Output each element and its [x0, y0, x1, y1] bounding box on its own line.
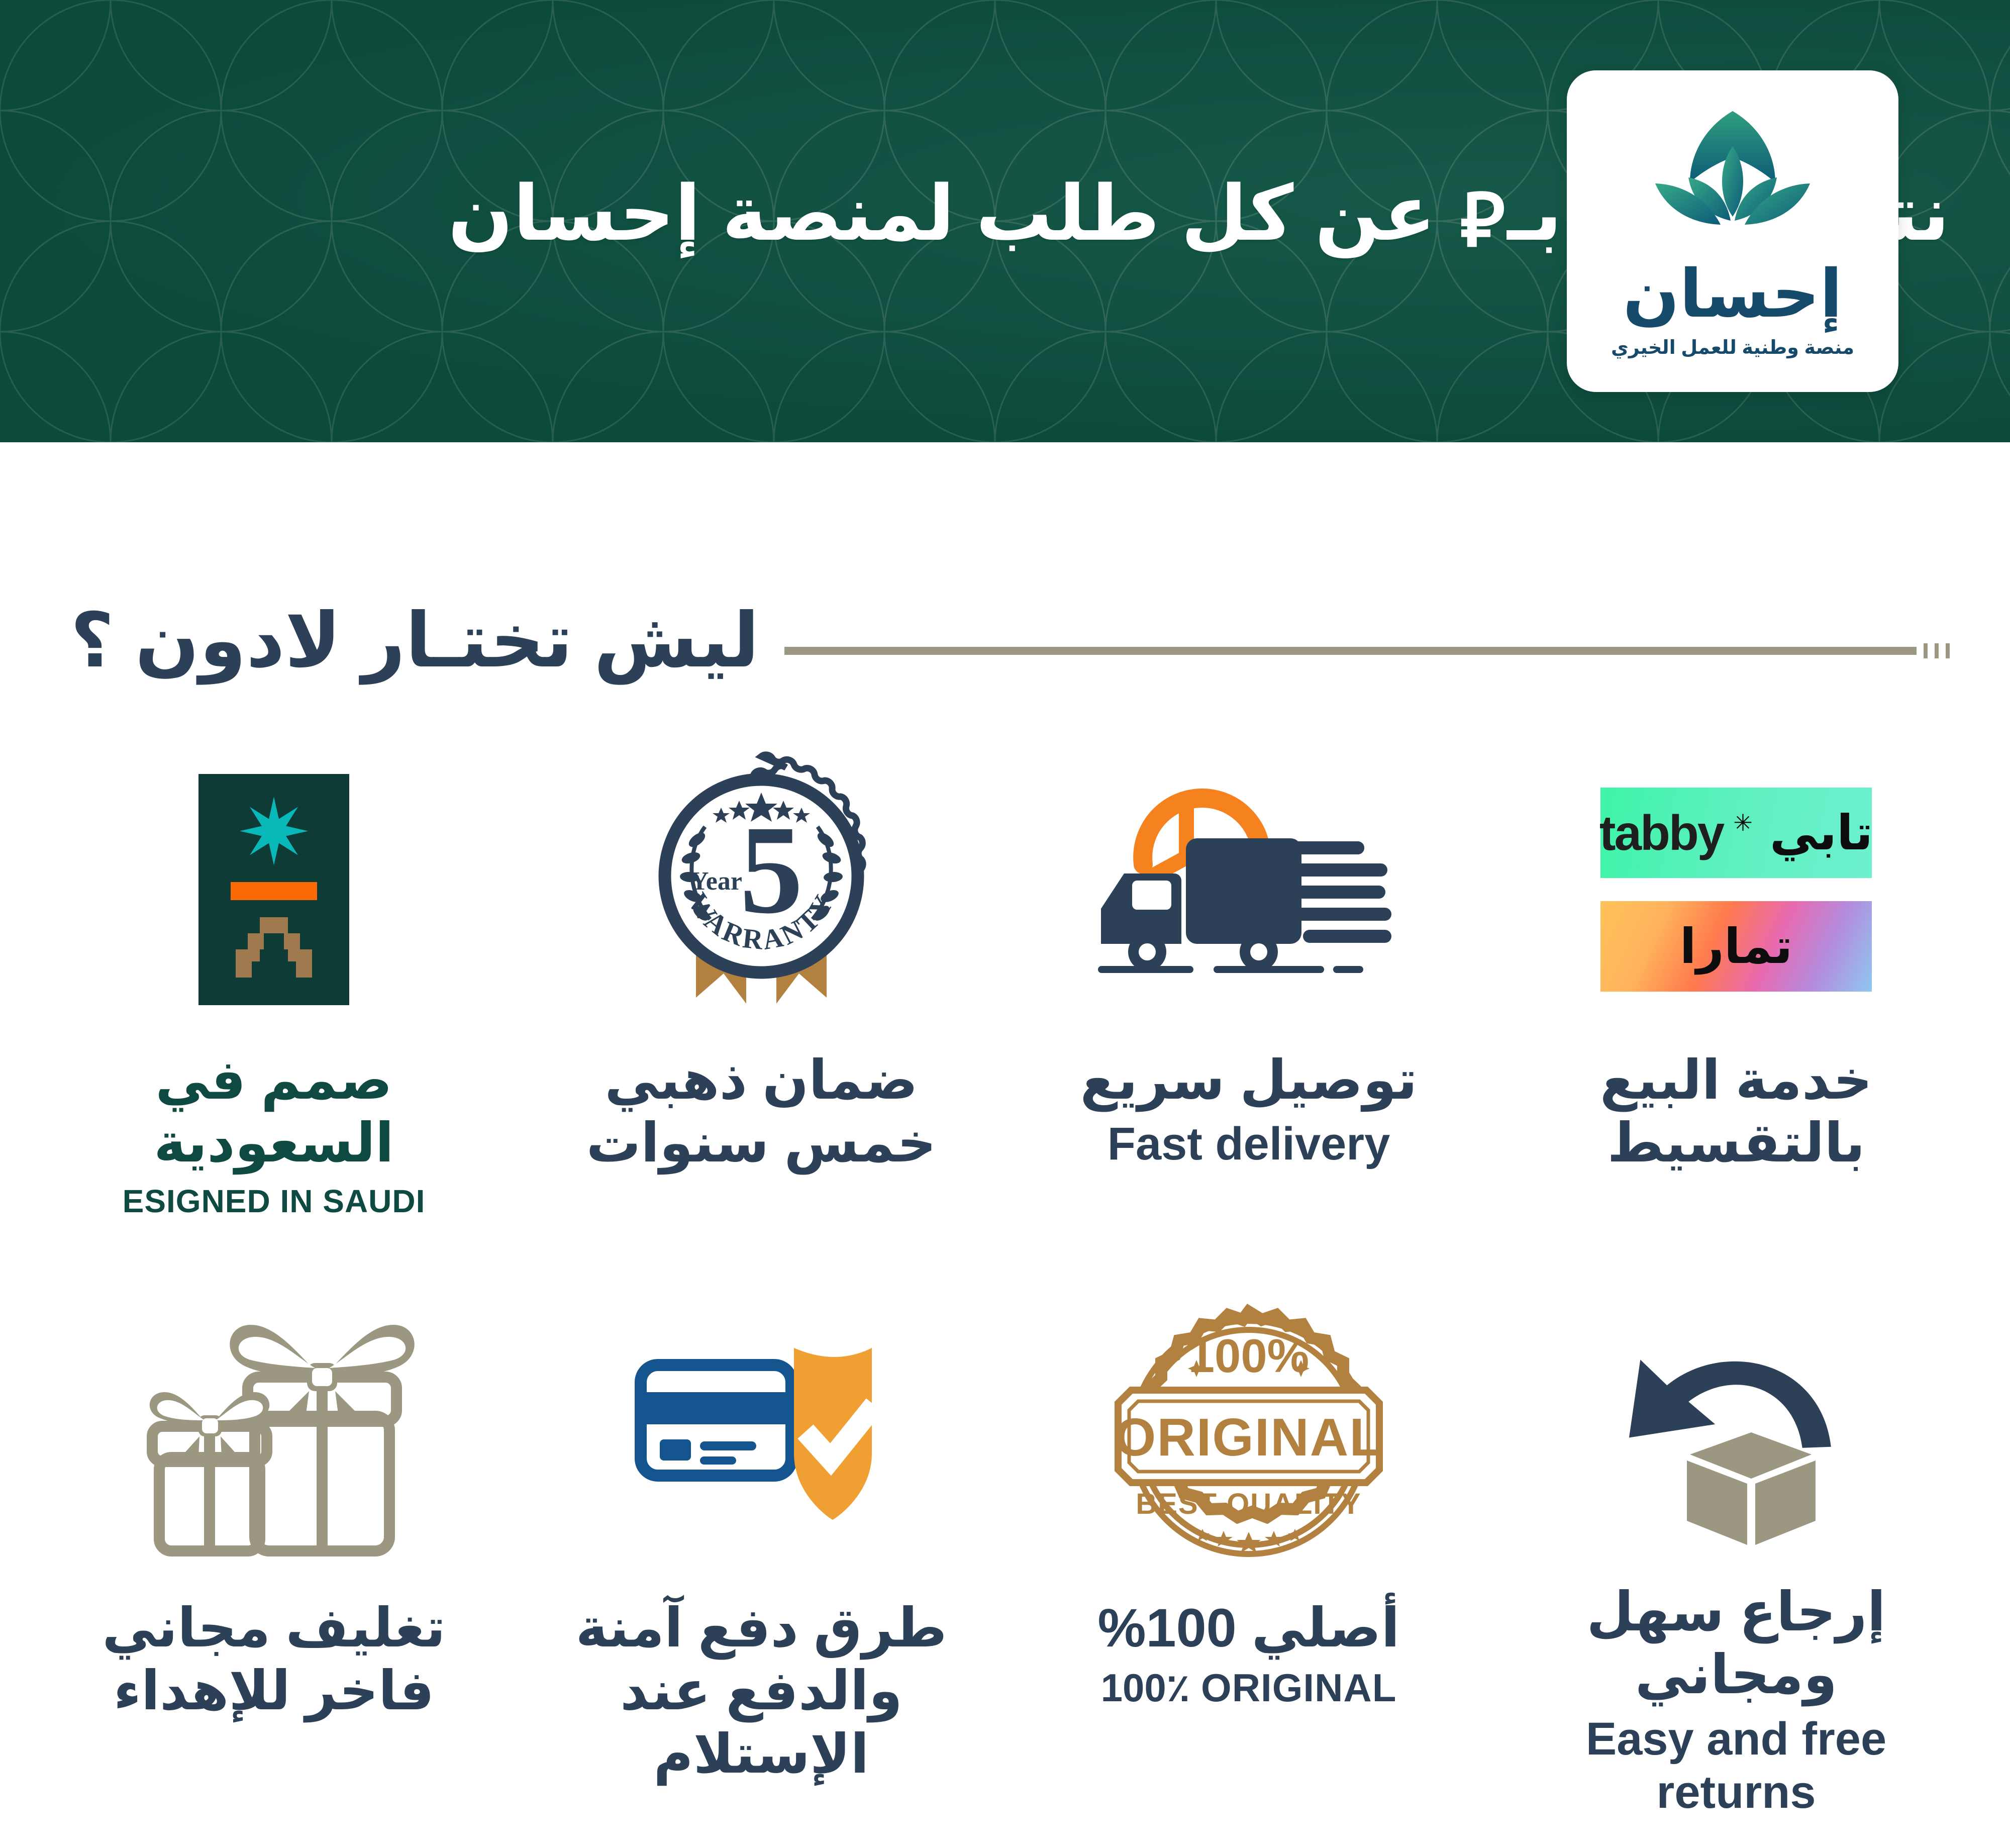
orange-bar-icon [231, 882, 317, 900]
ihsan-logo-card[interactable]: إحسان منصة وطنية للعمل الخيري [1567, 70, 1898, 392]
feature-card-secure-payments[interactable]: طرق دفع آمنة والدفع عند الإستلام [518, 1272, 1005, 1819]
stepped-arch-icon [224, 917, 324, 978]
header-banner: نتبرع عنك بـ⃁ عن كل طلب لمنصة إحسان [0, 0, 2010, 442]
feature-label-ar: صمم في السعودية [154, 1048, 394, 1175]
headline-suffix: عن كل طلب لمنصة إحسان [448, 171, 1436, 256]
feature-card-designed-in-saudi[interactable]: ✷ صمم [30, 724, 518, 1272]
feature-card-gift-wrap[interactable]: تغليف مجاني فاخر للإهداء [30, 1272, 518, 1819]
feature-label-ar: أصلي 100% [1098, 1596, 1400, 1659]
feature-label-ar: طرق دفع آمنة والدفع عند الإستلام [528, 1596, 995, 1785]
badge-percent-text: 100% [1188, 1329, 1309, 1382]
ihsan-leaf-logo-icon [1632, 107, 1833, 253]
ihsan-logo-wordmark: إحسان [1623, 261, 1843, 327]
feature-label-en: ESIGNED IN SAUDI [123, 1183, 426, 1220]
feature-card-original[interactable]: 100% ORIGINAL BEST QUALITY [1005, 1272, 1492, 1819]
feature-card-warranty[interactable]: 5 Year WARRANTY ضمان ذهبي خمس سنوات [518, 724, 1005, 1272]
designed-in-saudi-icon: ✷ [198, 774, 349, 1005]
badge-quality-text: BEST QUALITY [1136, 1488, 1361, 1520]
credit-card-shield-check-icon [621, 1317, 902, 1558]
divider-tick [1924, 643, 1928, 658]
return-box-arrow-icon [1600, 1304, 1872, 1555]
divider-tick [1935, 643, 1939, 658]
feature-card-fast-delivery[interactable]: توصيل سريع Fast delivery [1005, 724, 1492, 1272]
gift-boxes-icon [128, 1307, 420, 1568]
why-choose-section-header: ليش تختـار لادون ؟ [0, 558, 2010, 724]
feature-label-en: Fast delivery [1108, 1117, 1390, 1171]
divider-bar [784, 647, 1917, 655]
feature-label-ar: خدمة البيع بالتقسيط [1600, 1048, 1872, 1175]
badge-original-text: ORIGINAL [1115, 1408, 1383, 1467]
feature-grid: tabby ✳ تابي تمارا خدمة البيع بالتقسيط [0, 724, 2010, 1819]
section-divider [784, 643, 1950, 658]
feature-label-en: Easy and free returns [1502, 1712, 1970, 1819]
ihsan-logo-tagline: منصة وطنية للعمل الخيري [1611, 336, 1854, 359]
feature-label-ar: إرجاع سهل ومجاني [1502, 1580, 1970, 1706]
tabby-latin-wordmark: tabby [1599, 805, 1723, 861]
section-title: ليش تختـار لادون ؟ [70, 597, 759, 685]
asterisk-icon: ✷ [236, 802, 312, 865]
feature-label-ar: تغليف مجاني فاخر للإهداء [102, 1596, 445, 1722]
feature-label-en: 100٪ ORIGINAL [1101, 1665, 1397, 1710]
tabby-asterisk-icon: ✳ [1733, 809, 1753, 836]
tabby-arabic-wordmark: تابي [1770, 805, 1873, 861]
divider-tick [1946, 643, 1950, 658]
delivery-truck-clock-icon [1093, 749, 1404, 1030]
feature-label-ar: ضمان ذهبي خمس سنوات [586, 1048, 936, 1175]
tabby-logo-icon: tabby ✳ تابي [1600, 788, 1872, 878]
feature-card-installments[interactable]: tabby ✳ تابي تمارا خدمة البيع بالتقسيط [1492, 724, 1980, 1272]
warranty-year-word: Year [690, 867, 742, 896]
hundred-percent-original-badge-icon: 100% ORIGINAL BEST QUALITY [1098, 1297, 1399, 1578]
feature-label-ar: توصيل سريع [1080, 1048, 1418, 1111]
saudi-riyal-symbol-icon: ⃁ [1457, 173, 1507, 267]
feature-card-free-returns[interactable]: إرجاع سهل ومجاني Easy and free returns [1492, 1272, 1980, 1819]
five-year-warranty-badge-icon: 5 Year WARRANTY [621, 746, 902, 1033]
tamara-arabic-wordmark: تمارا [1680, 918, 1793, 975]
tamara-logo-icon: تمارا [1600, 901, 1872, 992]
tabby-tamara-bnpl-icon: tabby ✳ تابي تمارا [1502, 734, 1970, 1045]
promo-banner-page: نتبرع عنك بـ⃁ عن كل طلب لمنصة إحسان [0, 0, 2010, 1848]
